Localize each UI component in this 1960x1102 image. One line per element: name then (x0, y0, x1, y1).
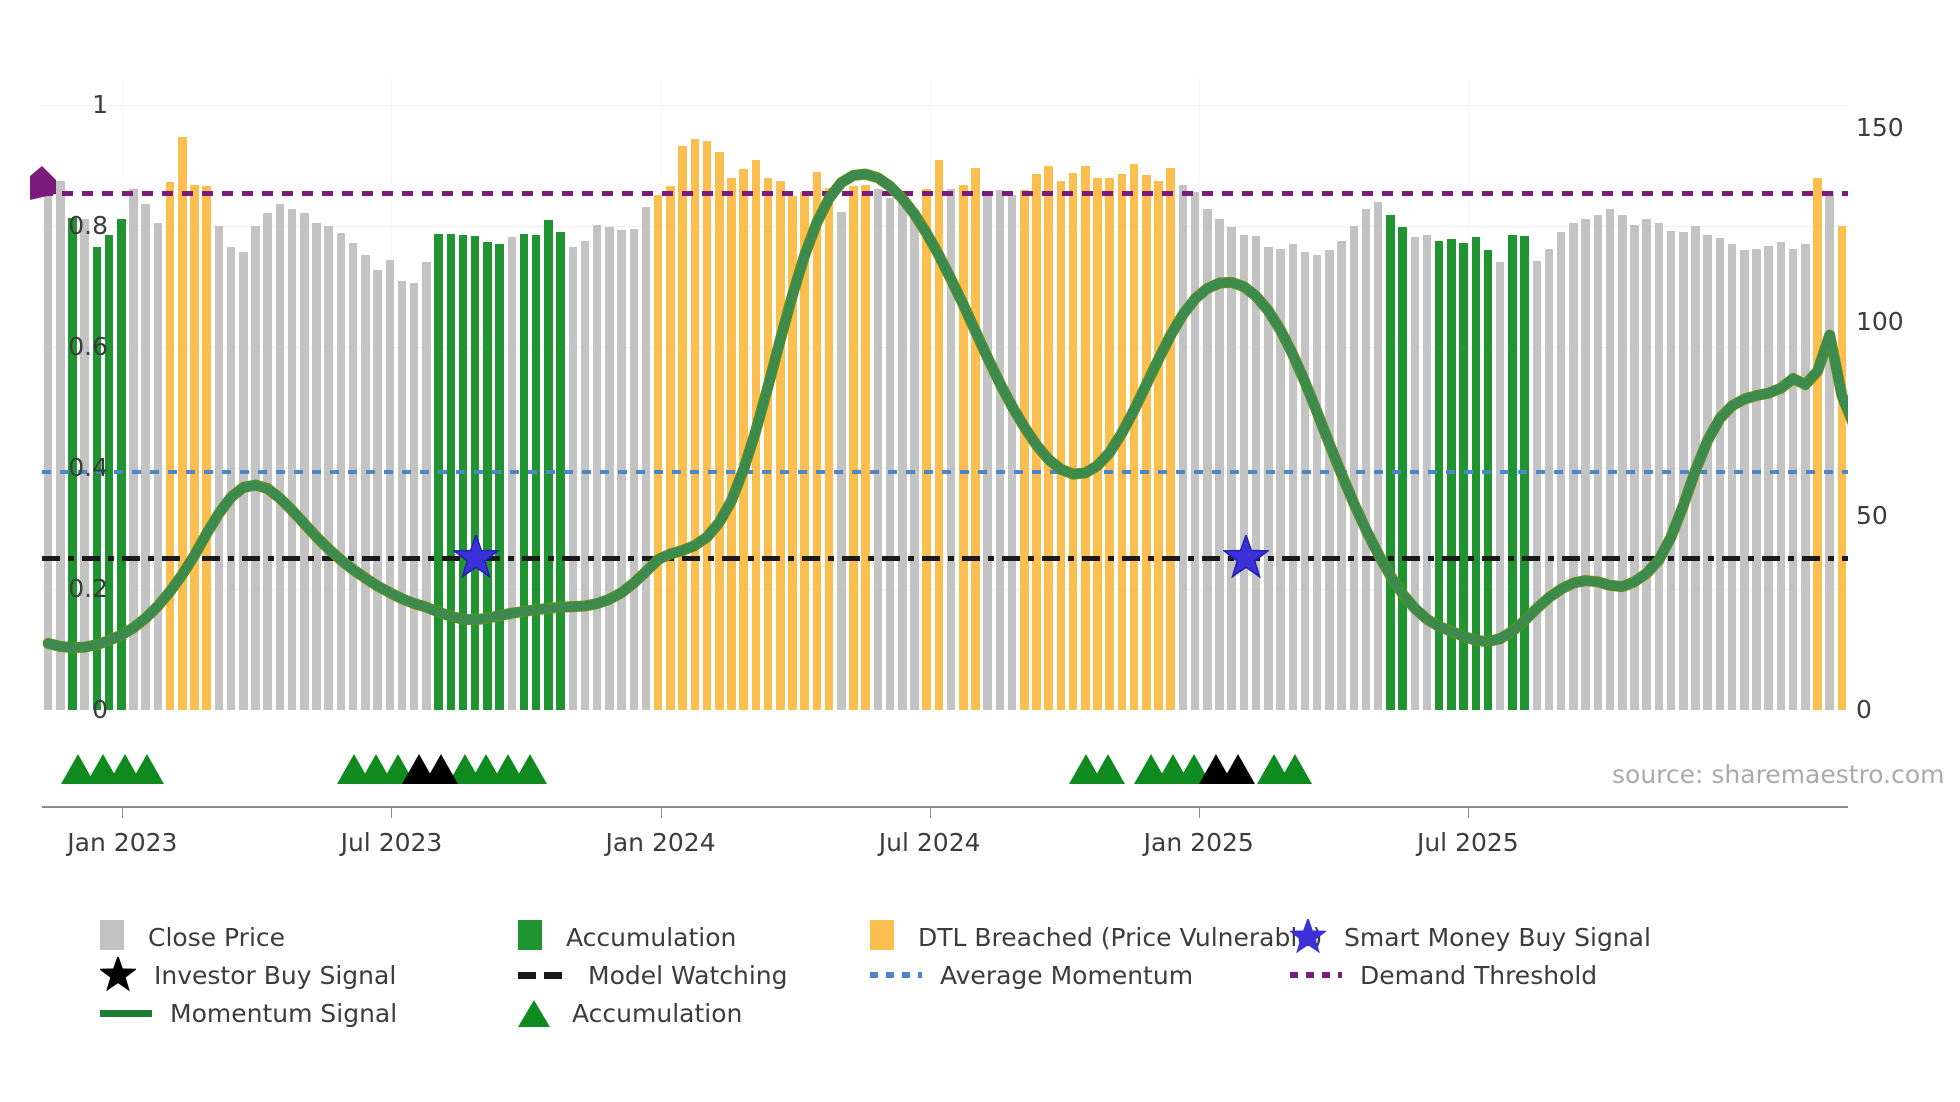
bar (800, 192, 809, 710)
bar (129, 189, 138, 710)
bar (1203, 209, 1212, 710)
bar (1337, 241, 1346, 710)
bar (1642, 219, 1651, 710)
bar (166, 182, 175, 710)
bar (1740, 250, 1749, 710)
bar (1301, 252, 1310, 710)
bar (715, 152, 724, 710)
bar (1459, 243, 1468, 710)
legend-item-smart-money-buy-signal[interactable]: Smart Money Buy Signal (1290, 918, 1651, 956)
legend-item-demand-threshold[interactable]: Demand Threshold (1290, 956, 1597, 994)
bar (813, 172, 822, 710)
bar (202, 186, 211, 710)
bar (1166, 168, 1175, 710)
bar (727, 178, 736, 710)
accumulation-triangle-icon (1091, 754, 1125, 784)
legend-item-close-price[interactable]: Close Price (100, 918, 285, 956)
bar (117, 219, 126, 710)
accumulation-triangle-icon (513, 754, 547, 784)
bar (1215, 219, 1224, 710)
bar (1008, 195, 1017, 710)
bar (1264, 247, 1273, 710)
bar (251, 226, 260, 710)
bar (1496, 262, 1505, 710)
bar (300, 213, 309, 710)
bar (398, 281, 407, 710)
y-axis-left-tick-label: 1 (38, 92, 108, 117)
y-axis-left-tick-label: 0.6 (38, 334, 108, 359)
bar (56, 181, 65, 710)
chart-root: 10.80.60.40.20 150100500 Jan 2023Jul 202… (0, 0, 1960, 1102)
bar (691, 139, 700, 710)
bar (1435, 241, 1444, 710)
bar (1484, 250, 1493, 710)
bar (1447, 239, 1456, 710)
bar (776, 181, 785, 710)
bar (874, 189, 883, 710)
x-axis-tick-label: Jul 2024 (879, 828, 981, 857)
y-axis-right-tick-label: 0 (1856, 697, 1946, 722)
bar (996, 190, 1005, 710)
bar (678, 146, 687, 710)
bar (154, 223, 163, 710)
bar (849, 186, 858, 710)
bar (312, 223, 321, 710)
x-axis-tick-mark (1468, 806, 1469, 818)
bar (422, 262, 431, 710)
bar (1154, 181, 1163, 710)
bar (886, 198, 895, 710)
legend-item-investor-buy-signal[interactable]: Investor Buy Signal (100, 956, 396, 994)
bar (361, 255, 370, 710)
bar (386, 260, 395, 710)
accumulation-triangle-triangle-icon (518, 1000, 550, 1027)
legend-row: Investor Buy SignalModel WatchingAverage… (100, 956, 1940, 994)
legend-label: Model Watching (588, 961, 788, 990)
legend-label: Accumulation (566, 923, 736, 952)
bar (898, 200, 907, 710)
bar (764, 178, 773, 710)
bar (922, 189, 931, 710)
bar (1398, 227, 1407, 710)
bar (983, 192, 992, 710)
average-momentum-dotted-icon (870, 972, 922, 978)
bar (1276, 249, 1285, 710)
y-axis-right-tick-label: 100 (1856, 309, 1946, 334)
bar (825, 188, 834, 710)
x-axis-tick-mark (122, 806, 123, 818)
investor-buy-triangle-icon (1221, 754, 1255, 784)
bar (1691, 226, 1700, 710)
bar (288, 209, 297, 710)
bar (861, 185, 870, 710)
legend-label: Close Price (148, 923, 285, 952)
x-axis-tick-label: Jan 2025 (1144, 828, 1254, 857)
bar (215, 226, 224, 710)
x-axis-tick-label: Jan 2024 (605, 828, 715, 857)
demand-threshold-marker-icon (26, 164, 62, 208)
dtl-breached-swatch-icon (870, 920, 900, 954)
vertical-gridline-5 (1468, 78, 1469, 710)
bar (1618, 215, 1627, 710)
legend-row: Close PriceAccumulationDTL Breached (Pri… (100, 918, 1940, 956)
bar (1032, 174, 1041, 710)
plot-area (42, 78, 1848, 710)
legend-item-average-momentum[interactable]: Average Momentum (870, 956, 1193, 994)
bar (1118, 174, 1127, 710)
momentum-signal-line-icon (100, 1010, 152, 1017)
bar (1093, 178, 1102, 710)
bar (1130, 164, 1139, 710)
bar (1728, 244, 1737, 710)
close-price-swatch-icon (100, 920, 130, 954)
demand-threshold-dotted-icon (1290, 972, 1342, 978)
bar (263, 213, 272, 710)
bar (1764, 246, 1773, 710)
x-axis-tick-label: Jan 2023 (67, 828, 177, 857)
bar (44, 185, 53, 710)
bar (1386, 215, 1395, 710)
x-axis-line (42, 806, 1848, 808)
bar (1057, 181, 1066, 710)
x-axis-tick-label: Jul 2023 (341, 828, 443, 857)
bar (1227, 227, 1236, 710)
bar (837, 212, 846, 710)
x-axis-tick-mark (661, 806, 662, 818)
bar (593, 225, 602, 710)
bar (1325, 250, 1334, 710)
bar (1313, 255, 1322, 710)
bar (141, 204, 150, 710)
bar (544, 220, 553, 710)
chart-legend: Close PriceAccumulationDTL Breached (Pri… (100, 918, 1940, 1032)
bar (1825, 192, 1834, 710)
bar (1191, 192, 1200, 710)
bar (1374, 202, 1383, 710)
bar (581, 241, 590, 710)
bar (1838, 226, 1847, 710)
signal-triangle-band (42, 744, 1848, 784)
x-axis-tick-mark (930, 806, 931, 818)
x-axis-tick-mark (1199, 806, 1200, 818)
bar (1545, 249, 1554, 710)
bar (1105, 178, 1114, 710)
bar (630, 229, 639, 710)
x-axis-tick-mark (391, 806, 392, 818)
bar (483, 242, 492, 710)
demand-threshold-line (42, 191, 1848, 196)
model-watching-dash-icon (518, 972, 570, 979)
bar (239, 252, 248, 710)
bar (971, 168, 980, 710)
bar (1630, 225, 1639, 710)
bar (324, 226, 333, 710)
bar (178, 137, 187, 710)
legend-label: Demand Threshold (1360, 961, 1597, 990)
bar (1606, 209, 1615, 710)
legend-item-accumulation-triangle[interactable]: Accumulation (518, 994, 742, 1032)
accumulation-triangle-icon (130, 754, 164, 784)
bar (1044, 166, 1053, 710)
bar (752, 160, 761, 710)
investor-buy-triangle-icon (424, 754, 458, 784)
smart-money-buy-signal-star-icon (1290, 919, 1326, 955)
accumulation-triangle-icon (1278, 754, 1312, 784)
bar (190, 185, 199, 710)
bar (1569, 223, 1578, 710)
legend-label: Average Momentum (940, 961, 1193, 990)
bar (910, 210, 919, 710)
y-axis-left-tick-label: 0.8 (38, 213, 108, 238)
bar (642, 207, 651, 710)
bar (703, 141, 712, 710)
y-axis-left-tick-label: 0 (38, 697, 108, 722)
bar (935, 160, 944, 710)
legend-label: Smart Money Buy Signal (1344, 923, 1651, 952)
legend-item-accumulation-bar[interactable]: Accumulation (518, 918, 736, 956)
bar (605, 227, 614, 710)
y-axis-right-tick-label: 50 (1856, 503, 1946, 528)
y-axis-left-tick-label: 0.4 (38, 455, 108, 480)
legend-row: Momentum SignalAccumulation (100, 994, 1940, 1032)
legend-label: Momentum Signal (170, 999, 397, 1028)
legend-label: DTL Breached (Price Vulnerable) (918, 923, 1322, 952)
gridline-4 (42, 105, 1848, 106)
legend-item-dtl-breached[interactable]: DTL Breached (Price Vulnerable) (870, 918, 1322, 956)
bar (1142, 175, 1151, 710)
bar (947, 189, 956, 710)
bar (1020, 190, 1029, 710)
legend-item-model-watching[interactable]: Model Watching (518, 956, 788, 994)
bar (349, 243, 358, 710)
legend-label: Accumulation (572, 999, 742, 1028)
legend-label: Investor Buy Signal (154, 961, 396, 990)
investor-buy-signal-star-icon (100, 957, 136, 993)
bar (654, 195, 663, 710)
x-axis-tick-label: Jul 2025 (1417, 828, 1519, 857)
y-axis-left-tick-label: 0.2 (38, 576, 108, 601)
source-attribution: source: sharemaestro.com (1612, 760, 1945, 789)
model-watching-line (42, 556, 1848, 561)
bar (569, 247, 578, 710)
bar (1362, 209, 1371, 710)
bar (739, 169, 748, 710)
bar (1289, 244, 1298, 710)
bar (227, 247, 236, 710)
accumulation-bar-swatch-icon (518, 920, 548, 954)
y-axis-right-tick-label: 150 (1856, 115, 1946, 140)
bar (1813, 178, 1822, 710)
bar (1655, 223, 1664, 710)
bar (1533, 261, 1542, 710)
bar (1581, 219, 1590, 710)
bar (1069, 173, 1078, 710)
bar (1752, 249, 1761, 710)
legend-item-momentum-signal[interactable]: Momentum Signal (100, 994, 397, 1032)
bar (666, 186, 675, 710)
bar (276, 204, 285, 710)
average-momentum-line (42, 470, 1848, 474)
bar (1081, 166, 1090, 710)
bar (788, 196, 797, 710)
bar (1789, 249, 1798, 710)
bar (1350, 226, 1359, 710)
bar (959, 185, 968, 710)
bar (1801, 244, 1810, 710)
bar (1777, 242, 1786, 710)
bar (373, 270, 382, 710)
bar (495, 244, 504, 710)
bar (410, 283, 419, 710)
bar (1594, 215, 1603, 710)
bar (1179, 185, 1188, 710)
